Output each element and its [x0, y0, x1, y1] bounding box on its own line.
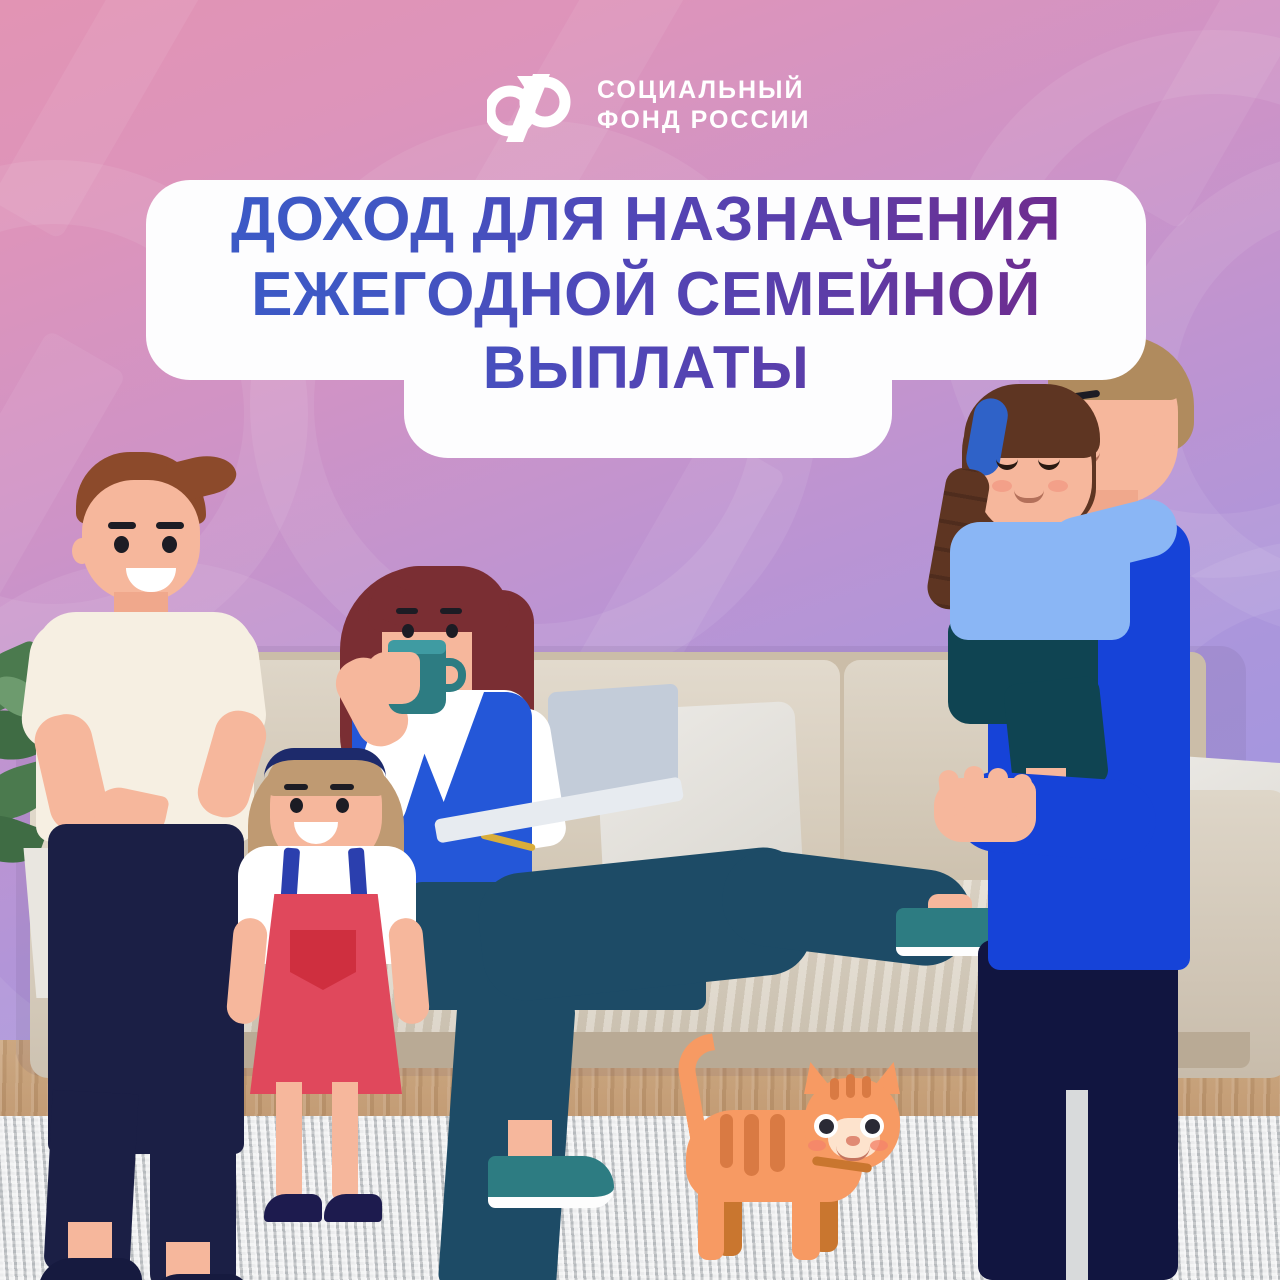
eye-right: [336, 798, 349, 813]
finger-3: [988, 768, 1008, 816]
eye-right: [162, 536, 177, 553]
cat-forehead-stripe-3: [862, 1076, 871, 1098]
sfr-monogram-icon: [487, 68, 579, 142]
cat-pupil-right: [865, 1119, 880, 1134]
sfr-logo-line2: ФОНД РОССИИ: [597, 107, 810, 133]
leg-left: [276, 1082, 302, 1202]
title-line-3: ВЫПЛАТЫ: [146, 332, 1146, 405]
cat-blush-right: [870, 1140, 888, 1151]
eyebrow-left: [396, 608, 418, 614]
page-title: ДОХОД ДЛЯ НАЗНАЧЕНИЯ ЕЖЕГОДНОЙ СЕМЕЙНОЙ …: [146, 182, 1146, 405]
cat-forehead-stripe-1: [830, 1078, 839, 1100]
leg-down: [438, 986, 577, 1280]
eye-left: [402, 624, 414, 638]
eyebrow-right: [440, 608, 462, 614]
title-line-2: ЕЖЕГОДНОЙ СЕМЕЙНОЙ: [146, 257, 1146, 332]
eyebrow-left: [108, 522, 136, 529]
cat-pupil-left: [819, 1119, 834, 1134]
eyebrow-right: [330, 784, 354, 790]
eye-right: [446, 624, 458, 638]
cat-forehead-stripe-2: [846, 1074, 855, 1098]
sfr-logo: СОЦИАЛЬНЫЙ ФОНД РОССИИ: [487, 66, 817, 144]
headband: [264, 748, 386, 778]
arm-right: [387, 917, 430, 1026]
orange-tabby-cat: [664, 1032, 904, 1262]
eye-left: [290, 798, 303, 813]
cat-nose: [846, 1136, 860, 1146]
leg-right: [332, 1082, 358, 1202]
cat-stripe-3: [770, 1114, 785, 1172]
sfr-logo-text: СОЦИАЛЬНЫЙ ФОНД РОССИИ: [597, 77, 810, 134]
ear: [72, 538, 92, 564]
cat-stripe-2: [744, 1114, 759, 1176]
sneaker-down: [488, 1156, 614, 1208]
shoe-right: [324, 1194, 382, 1222]
hand-holding-mug: [366, 652, 420, 704]
finger-4: [1012, 774, 1032, 818]
pinafore-dress: [250, 894, 402, 1094]
eye-left: [114, 536, 129, 553]
title-line-1: ДОХОД ДЛЯ НАЗНАЧЕНИЯ: [146, 182, 1146, 257]
poster-canvas: СОЦИАЛЬНЫЙ ФОНД РОССИИ: [0, 0, 1280, 1280]
man-right-holding-arm: [900, 330, 1220, 1280]
cat-blush-left: [808, 1140, 826, 1151]
cat-leg-back-near: [698, 1182, 724, 1260]
character-girl-in-red-pinafore: [228, 742, 428, 1242]
shoe-left: [264, 1194, 322, 1222]
cat-leg-front-near: [792, 1182, 820, 1260]
finger-2: [964, 766, 984, 816]
cat-stripe-1: [720, 1114, 733, 1168]
sfr-logo-line1: СОЦИАЛЬНЫЙ: [597, 77, 810, 103]
eyebrow-left: [284, 784, 308, 790]
eyebrow-right: [156, 522, 184, 529]
finger-1: [938, 769, 963, 817]
